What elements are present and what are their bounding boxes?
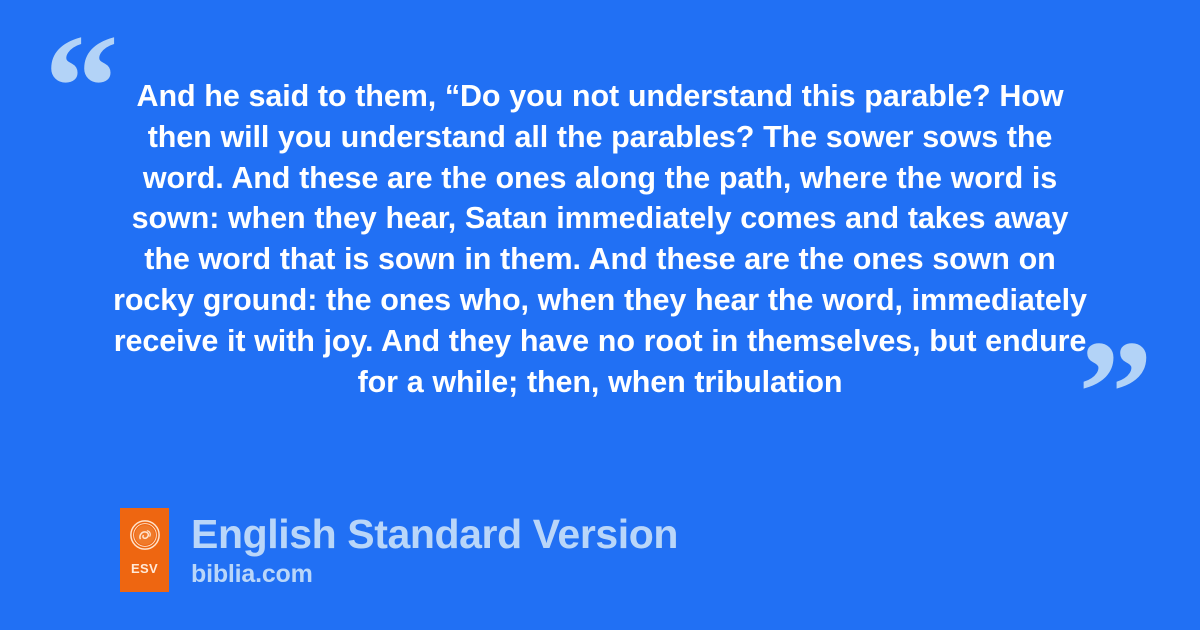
brand-text-block: English Standard Version biblia.com [191, 508, 678, 589]
brand-footer: ESV English Standard Version biblia.com [120, 508, 678, 592]
site-url: biblia.com [191, 559, 678, 589]
esv-logo: ESV [120, 508, 169, 592]
bible-version-title: English Standard Version [191, 510, 678, 558]
closing-quote-icon: ” [1078, 318, 1153, 468]
esv-logo-label: ESV [120, 562, 169, 575]
opening-quote-icon: “ [44, 12, 119, 162]
quote-text: And he said to them, “Do you not underst… [110, 76, 1090, 402]
esv-seal-icon [130, 520, 160, 550]
quote-card: “ And he said to them, “Do you not under… [0, 0, 1200, 630]
